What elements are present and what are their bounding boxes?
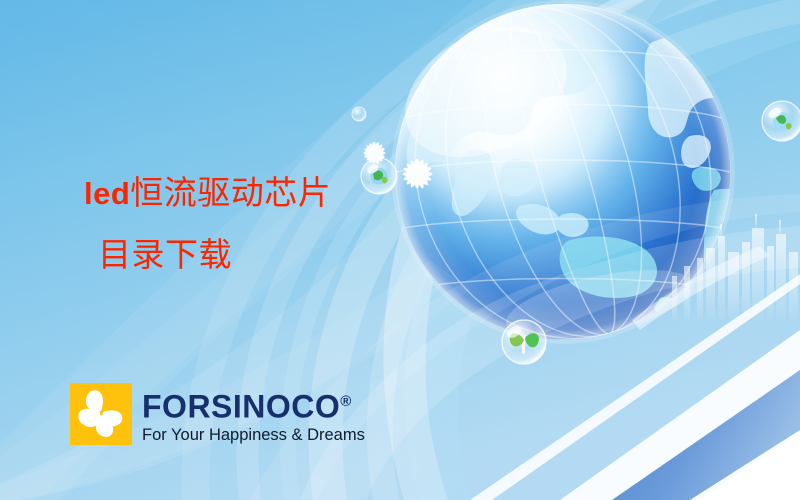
bubble-tiny [352, 107, 366, 121]
pinwheel-petals-icon [70, 383, 132, 445]
logo-wordmark-text: FORSINOCO [142, 389, 340, 425]
four-petal-pinwheel-mark [70, 383, 132, 445]
slide-canvas: led恒流驱动芯片 目录下载 FORSINOCO® For Your Happi… [0, 0, 800, 500]
bubble-with-globe [361, 158, 397, 194]
bubble-with-sprout [502, 320, 546, 364]
company-logo[interactable]: FORSINOCO® For Your Happiness & Dreams [70, 383, 365, 445]
bubble-right-edge [762, 101, 800, 141]
logo-wordmark: FORSINOCO® [142, 386, 365, 423]
registered-trademark-icon: ® [340, 393, 351, 410]
logo-tagline: For Your Happiness & Dreams [142, 426, 365, 444]
logo-text-block: FORSINOCO® For Your Happiness & Dreams [142, 383, 365, 444]
